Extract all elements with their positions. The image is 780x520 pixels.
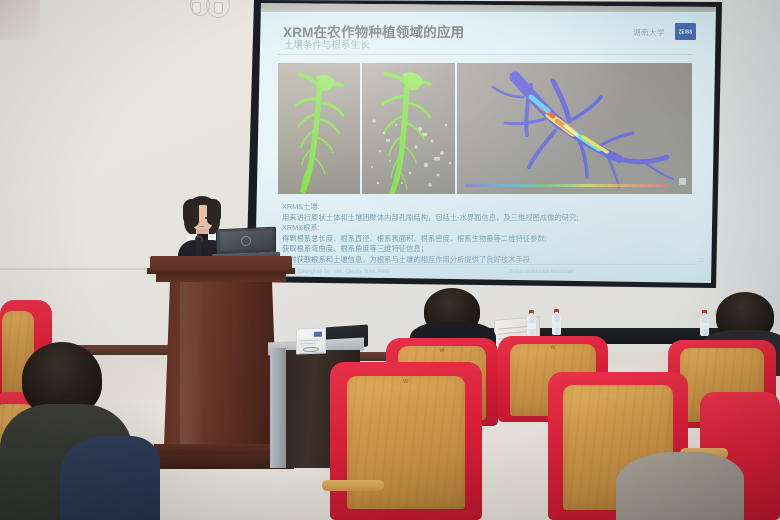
lecture-hall-scene: XRM在农作物种植领域的应用 土壤条件与根系生长 湖南大学 ZEISS	[0, 0, 780, 520]
slide-page-number: 12	[698, 258, 704, 264]
seat-armrest	[322, 480, 384, 491]
console-metal-rail	[270, 348, 286, 468]
water-bottle	[700, 310, 709, 336]
body-line-2: XRM&根系:	[282, 223, 692, 234]
root-graphic-1	[278, 63, 360, 194]
lectern-neck	[156, 274, 286, 282]
body-line-3: 得到根系总长度、根系直径、根系表面积、根系密度、根系生物量等二维特征参数;	[282, 234, 692, 245]
colorbar-marker	[679, 178, 686, 185]
slide-subtitle: 土壤条件与根系生长	[284, 37, 370, 51]
body-line-4: 获取根系弯曲度、根系角度等三维特征信息；	[282, 244, 692, 255]
water-bottle	[552, 309, 561, 335]
audience-coat-foreground	[616, 452, 744, 520]
presenter-eye-right	[205, 217, 208, 219]
slide-image-root-with-soil	[362, 63, 455, 194]
slide-organization: 湖南大学	[633, 27, 665, 38]
water-bottle	[527, 310, 536, 336]
slide-footer: ZEISS (Shanghai) Co., Ltd., Claudia Shen…	[282, 269, 692, 275]
slide-image-root-colormap	[457, 63, 692, 194]
presentation-slide: XRM在农作物种植领域的应用 土壤条件与根系生长 湖南大学 ZEISS	[255, 12, 716, 280]
zeiss-logo: ZEISS	[675, 23, 696, 40]
laptop-lid	[216, 227, 276, 256]
body-line-0: XRM&土壤:	[282, 202, 692, 213]
lectern-highlight	[180, 282, 204, 446]
footer-center-text: ZEISS confidential Restricted	[508, 269, 573, 275]
presenter-eye-left	[195, 217, 198, 219]
presenter-hair-left	[183, 199, 199, 227]
zeiss-brochure	[296, 327, 326, 354]
slide-image-strip	[278, 63, 692, 194]
projection-screen: XRM在农作物种植领域的应用 土壤条件与根系生长 湖南大学 ZEISS	[255, 3, 716, 283]
wall-lamp-fixture	[188, 2, 232, 28]
title-divider	[277, 54, 692, 55]
audience-jacket-foreground	[60, 436, 160, 520]
right-wall-panel	[716, 0, 780, 330]
root-graphic-2	[362, 63, 455, 194]
presenter-hair-right	[207, 199, 221, 225]
body-line-1: 用来进行原状土体和土壤团聚体内部孔隙结构，包括土-水界面信息，及三维视图成像的研…	[282, 213, 692, 224]
seat-brand-badge: W	[550, 345, 555, 351]
root-graphic-3	[457, 63, 692, 194]
brochure-glasses-image	[303, 347, 319, 353]
wall-corner-shadow	[0, 0, 40, 40]
slide-image-root-segmentation-green	[278, 63, 360, 194]
slide-body-text: XRM&土壤: 用来进行原状土体和土壤团聚体内部孔隙结构，包括土-水界面信息，及…	[282, 202, 692, 266]
seat-brand-badge: W	[439, 348, 444, 354]
zeiss-logo-text: ZEISS	[679, 28, 693, 34]
footer-divider	[275, 264, 695, 265]
brochure-zeiss-mark	[314, 332, 322, 337]
auditorium-seat-foreground[interactable]: W	[330, 362, 482, 520]
footer-left-text: ZEISS (Shanghai) Co., Ltd., Claudia Shen…	[282, 269, 389, 275]
colorbar	[465, 184, 667, 188]
seat-brand-badge: W	[403, 379, 409, 385]
